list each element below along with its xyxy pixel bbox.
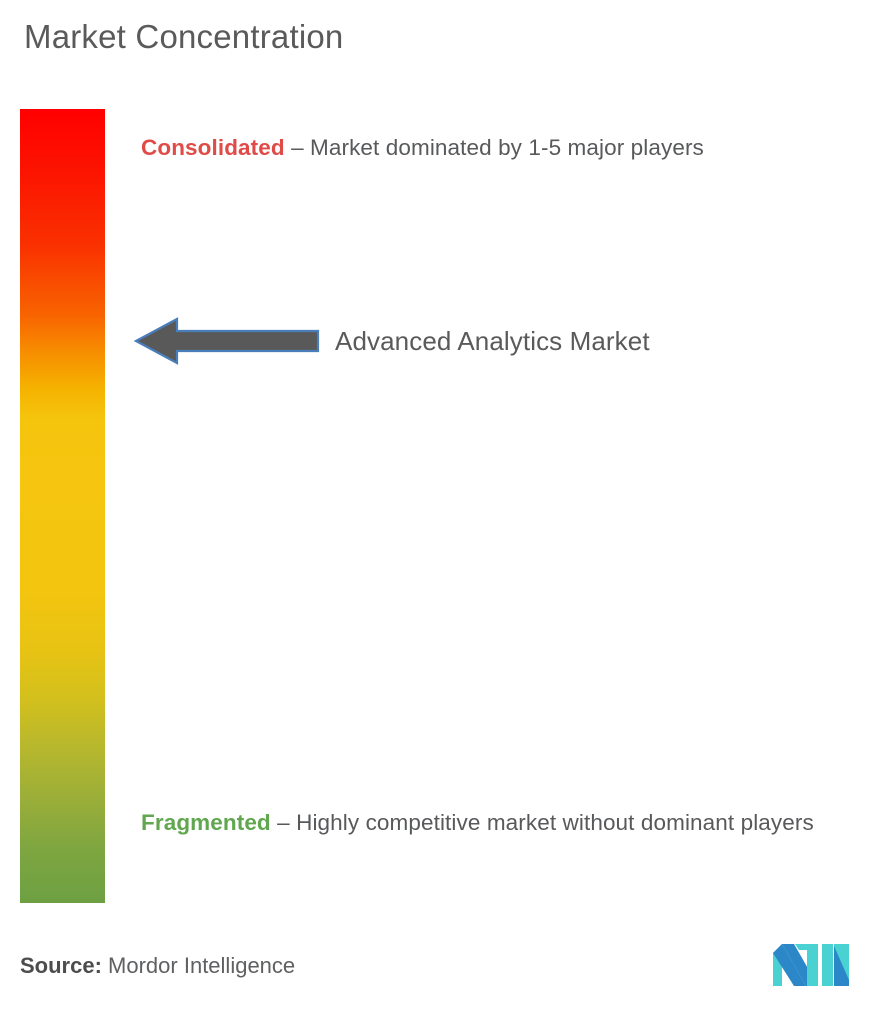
legend-consolidated-keyword: Consolidated bbox=[141, 135, 285, 160]
legend-consolidated-description: – Market dominated by 1-5 major players bbox=[285, 135, 704, 160]
page-title: Market Concentration bbox=[24, 18, 343, 56]
left-arrow-icon bbox=[133, 315, 321, 367]
source-line: Source: Mordor Intelligence bbox=[20, 953, 295, 979]
market-position-marker: Advanced Analytics Market bbox=[133, 312, 650, 370]
source-label: Source: bbox=[20, 953, 102, 978]
legend-fragmented-description: – Highly competitive market without domi… bbox=[271, 810, 814, 835]
mordor-intelligence-logo bbox=[773, 944, 849, 986]
legend-consolidated: Consolidated – Market dominated by 1-5 m… bbox=[141, 118, 841, 178]
marker-label: Advanced Analytics Market bbox=[335, 326, 650, 357]
concentration-scale-bar bbox=[20, 109, 105, 903]
source-value: Mordor Intelligence bbox=[108, 953, 295, 978]
legend-fragmented: Fragmented – Highly competitive market w… bbox=[141, 793, 851, 853]
legend-fragmented-keyword: Fragmented bbox=[141, 810, 271, 835]
